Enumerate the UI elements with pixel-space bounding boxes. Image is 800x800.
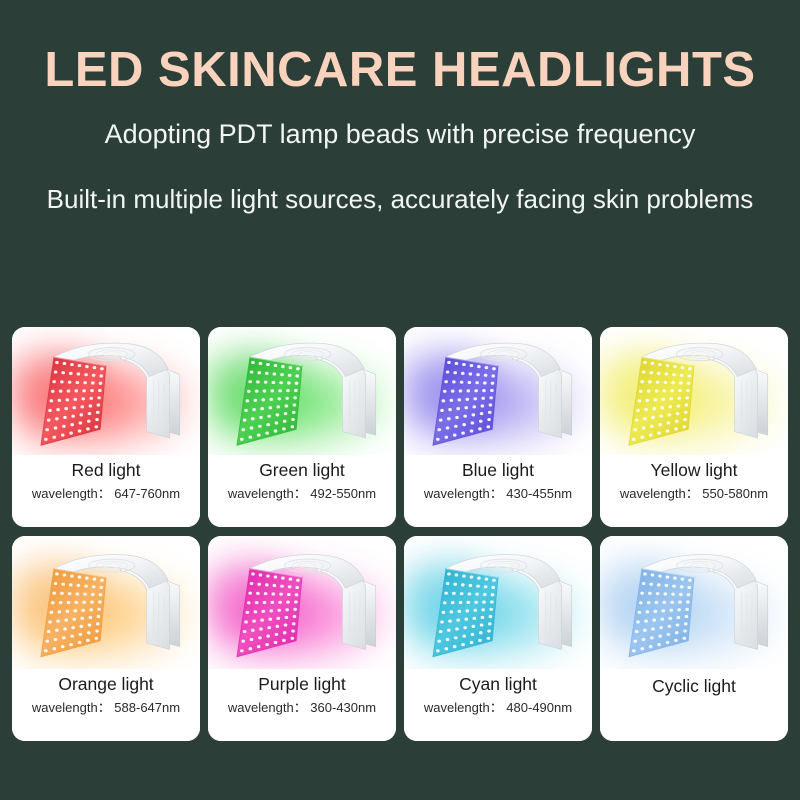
pdt-lamp-icon — [600, 536, 788, 669]
wavelength-text: wavelength： 588-647nm — [12, 700, 200, 717]
wavelength-text: wavelength： 550-580nm — [600, 486, 788, 503]
light-mode-name: Blue light — [404, 460, 592, 482]
light-mode-name: Purple light — [208, 674, 396, 696]
light-mode-name: Orange light — [12, 674, 200, 696]
product-photo — [208, 536, 396, 669]
pdt-lamp-icon — [404, 327, 592, 455]
wavelength-text: wavelength： 647-760nm — [12, 486, 200, 503]
light-mode-name: Cyclic light — [600, 674, 788, 698]
wavelength-text: wavelength： 480-490nm — [404, 700, 592, 717]
pdt-lamp-icon — [12, 327, 200, 455]
light-mode-card[interactable]: Cyclic light — [600, 536, 788, 741]
light-mode-card[interactable]: Red lightwavelength： 647-760nm — [12, 327, 200, 527]
light-mode-card[interactable]: Yellow lightwavelength： 550-580nm — [600, 327, 788, 527]
light-mode-name: Green light — [208, 460, 396, 482]
card-caption: Green lightwavelength： 492-550nm — [208, 455, 396, 527]
light-mode-card[interactable]: Cyan lightwavelength： 480-490nm — [404, 536, 592, 741]
card-caption: Yellow lightwavelength： 550-580nm — [600, 455, 788, 527]
product-photo — [404, 327, 592, 455]
light-mode-card[interactable]: Blue lightwavelength： 430-455nm — [404, 327, 592, 527]
product-photo — [12, 536, 200, 669]
product-photo — [208, 327, 396, 455]
light-mode-name: Cyan light — [404, 674, 592, 696]
card-caption: Red lightwavelength： 647-760nm — [12, 455, 200, 527]
product-photo — [12, 327, 200, 455]
light-mode-name: Yellow light — [600, 460, 788, 482]
product-photo — [600, 536, 788, 669]
pdt-lamp-icon — [208, 327, 396, 455]
card-caption: Purple lightwavelength： 360-430nm — [208, 669, 396, 741]
wavelength-text: wavelength： 360-430nm — [208, 700, 396, 717]
card-caption: Blue lightwavelength： 430-455nm — [404, 455, 592, 527]
card-caption: Orange lightwavelength： 588-647nm — [12, 669, 200, 741]
subtitle-secondary: Built-in multiple light sources, accurat… — [0, 186, 800, 212]
header: LED SKINCARE HEADLIGHTS Adopting PDT lam… — [0, 0, 800, 212]
promo-banner: LED SKINCARE HEADLIGHTS Adopting PDT lam… — [0, 0, 800, 800]
pdt-lamp-icon — [600, 327, 788, 455]
product-photo — [404, 536, 592, 669]
pdt-lamp-icon — [208, 536, 396, 669]
subtitle-primary: Adopting PDT lamp beads with precise fre… — [0, 121, 800, 148]
light-mode-card[interactable]: Green lightwavelength： 492-550nm — [208, 327, 396, 527]
page-title: LED SKINCARE HEADLIGHTS — [0, 46, 800, 95]
light-mode-name: Red light — [12, 460, 200, 482]
wavelength-text: wavelength： 492-550nm — [208, 486, 396, 503]
light-mode-card[interactable]: Purple lightwavelength： 360-430nm — [208, 536, 396, 741]
wavelength-text: wavelength： 430-455nm — [404, 486, 592, 503]
card-caption: Cyclic light — [600, 669, 788, 741]
light-mode-grid: Red lightwavelength： 647-760nm — [12, 327, 788, 741]
light-mode-card[interactable]: Orange lightwavelength： 588-647nm — [12, 536, 200, 741]
product-photo — [600, 327, 788, 455]
pdt-lamp-icon — [404, 536, 592, 669]
pdt-lamp-icon — [12, 536, 200, 669]
card-caption: Cyan lightwavelength： 480-490nm — [404, 669, 592, 741]
